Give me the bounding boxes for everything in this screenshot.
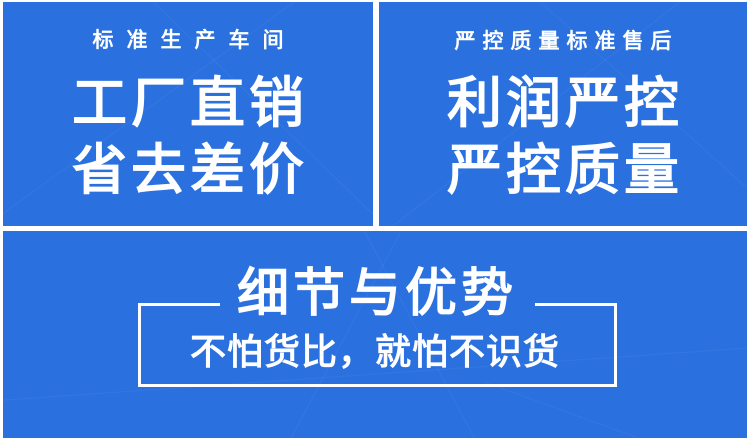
bottom-panel-subtitle: 不怕货比，就怕不识货 bbox=[0, 334, 750, 370]
panel-quality-control: 严控质量标准售后 利润严控 严控质量 bbox=[379, 2, 747, 226]
panel-left-headline-line2: 省去差价 bbox=[3, 143, 373, 198]
panel-right-headline-line1: 利润严控 bbox=[379, 76, 747, 131]
panel-left-headline-line1: 工厂直销 bbox=[3, 76, 373, 131]
promo-banner: 标准生产车间 工厂直销 省去差价 严控质量标准售后 利润严控 严控质量 细节与优… bbox=[0, 0, 750, 440]
panel-left-eyebrow: 标准生产车间 bbox=[3, 30, 373, 51]
panel-right-headline-line2: 严控质量 bbox=[379, 143, 747, 198]
panel-right-eyebrow: 严控质量标准售后 bbox=[379, 31, 747, 52]
panel-factory-direct: 标准生产车间 工厂直销 省去差价 bbox=[3, 2, 373, 226]
bottom-panel-title: 细节与优势 bbox=[0, 268, 750, 320]
